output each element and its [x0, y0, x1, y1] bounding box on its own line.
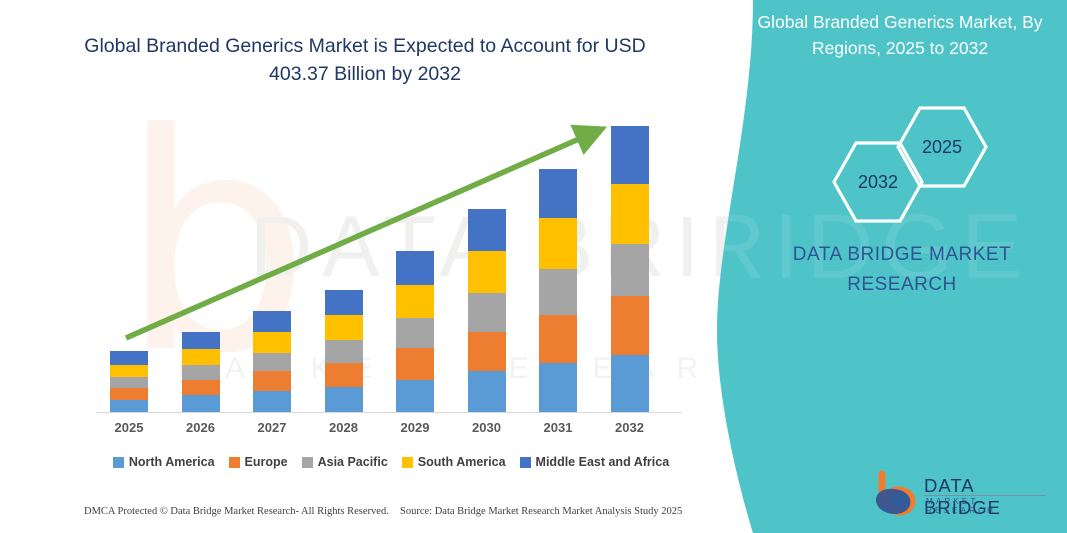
bar-segment	[396, 285, 434, 318]
logo-divider	[924, 495, 1046, 496]
legend-label: South America	[418, 455, 506, 469]
bar-segment	[611, 296, 649, 354]
bar-2028[interactable]	[325, 290, 363, 412]
bar-segment	[468, 209, 506, 251]
bar-segment	[611, 244, 649, 296]
x-axis-label-2027: 2027	[237, 420, 307, 435]
logo-b-mark-icon	[872, 470, 924, 518]
chart-legend: North AmericaEuropeAsia PacificSouth Ame…	[96, 455, 686, 469]
bar-segment	[611, 355, 649, 412]
bar-segment	[253, 353, 291, 372]
bar-2032[interactable]	[611, 126, 649, 412]
bar-segment	[396, 318, 434, 348]
bar-segment	[110, 365, 148, 376]
bar-segment	[396, 251, 434, 285]
bar-segment	[611, 126, 649, 184]
bar-segment	[253, 371, 291, 391]
x-axis-label-2031: 2031	[523, 420, 593, 435]
stacked-bar-chart: 20252026202720282029203020312032	[96, 110, 686, 415]
bar-2027[interactable]	[253, 311, 291, 412]
bar-2030[interactable]	[468, 209, 506, 412]
bar-segment	[611, 184, 649, 244]
chart-plot-area	[96, 110, 686, 412]
legend-label: Europe	[245, 455, 288, 469]
panel-brand-name: DATA BRIDGE MARKET RESEARCH	[737, 240, 1067, 300]
bar-segment	[468, 293, 506, 332]
panel-title: Global Branded Generics Market, By Regio…	[735, 9, 1065, 61]
bar-segment	[396, 348, 434, 379]
x-axis-line	[96, 412, 682, 413]
bar-segment	[182, 395, 220, 412]
legend-item[interactable]: Europe	[229, 455, 288, 469]
bar-segment	[468, 371, 506, 412]
x-axis-label-2028: 2028	[309, 420, 379, 435]
x-axis-label-2025: 2025	[94, 420, 164, 435]
bar-segment	[253, 311, 291, 332]
footer: DMCA Protected © Data Bridge Market Rese…	[0, 506, 710, 530]
bar-segment	[110, 377, 148, 388]
legend-item[interactable]: South America	[402, 455, 506, 469]
bar-segment	[182, 380, 220, 396]
panel-brand-line1: DATA BRIDGE MARKET	[737, 240, 1067, 270]
legend-label: Middle East and Africa	[536, 455, 670, 469]
bar-segment	[110, 351, 148, 366]
bar-2025[interactable]	[110, 351, 148, 412]
page-title: Global Branded Generics Market is Expect…	[70, 32, 660, 88]
bar-segment	[539, 218, 577, 269]
bar-segment	[110, 388, 148, 399]
footer-dmca-text: DMCA Protected © Data Bridge Market Rese…	[84, 506, 389, 517]
legend-label: North America	[129, 455, 215, 469]
infographic-canvas: b DATA BRIDGE MARKET RESEARCH Global Bra…	[0, 0, 1067, 533]
x-axis-label-2030: 2030	[452, 420, 522, 435]
company-logo: DATA BRIDGE MARKET RESEARCH	[872, 470, 1052, 520]
bar-segment	[325, 315, 363, 340]
bar-segment	[468, 332, 506, 372]
bar-2031[interactable]	[539, 169, 577, 412]
bar-segment	[539, 315, 577, 363]
x-axis-label-2029: 2029	[380, 420, 450, 435]
legend-label: Asia Pacific	[318, 455, 388, 469]
panel-brand-line2: RESEARCH	[737, 270, 1067, 300]
hexagon-2032-label: 2032	[831, 172, 925, 193]
bar-segment	[396, 380, 434, 412]
legend-swatch-icon	[229, 457, 240, 468]
x-axis-tick-labels: 20252026202720282029203020312032	[96, 420, 686, 444]
bar-segment	[182, 349, 220, 366]
bar-segment	[468, 251, 506, 294]
legend-item[interactable]: Middle East and Africa	[520, 455, 670, 469]
legend-swatch-icon	[520, 457, 531, 468]
bar-segment	[325, 340, 363, 363]
bar-2029[interactable]	[396, 251, 434, 412]
legend-swatch-icon	[302, 457, 313, 468]
logo-tagline-text: MARKET RESEARCH	[926, 497, 1052, 515]
bar-2026[interactable]	[182, 332, 220, 412]
bar-segment	[110, 400, 148, 412]
bar-segment	[325, 290, 363, 315]
legend-swatch-icon	[402, 457, 413, 468]
x-axis-label-2026: 2026	[166, 420, 236, 435]
legend-item[interactable]: Asia Pacific	[302, 455, 388, 469]
bar-segment	[182, 332, 220, 349]
right-panel: RIDGE Global Branded Generics Market, By…	[707, 0, 1067, 533]
bar-segment	[539, 269, 577, 315]
footer-source-text: Source: Data Bridge Market Research Mark…	[400, 506, 682, 517]
bar-segment	[253, 332, 291, 353]
legend-item[interactable]: North America	[113, 455, 215, 469]
x-axis-label-2032: 2032	[595, 420, 665, 435]
bar-segment	[182, 365, 220, 380]
bar-segment	[539, 363, 577, 412]
bar-segment	[253, 391, 291, 412]
hexagon-2032: 2032	[831, 140, 925, 229]
bar-segment	[325, 387, 363, 412]
bar-segment	[539, 169, 577, 218]
bar-segment	[325, 363, 363, 387]
legend-swatch-icon	[113, 457, 124, 468]
